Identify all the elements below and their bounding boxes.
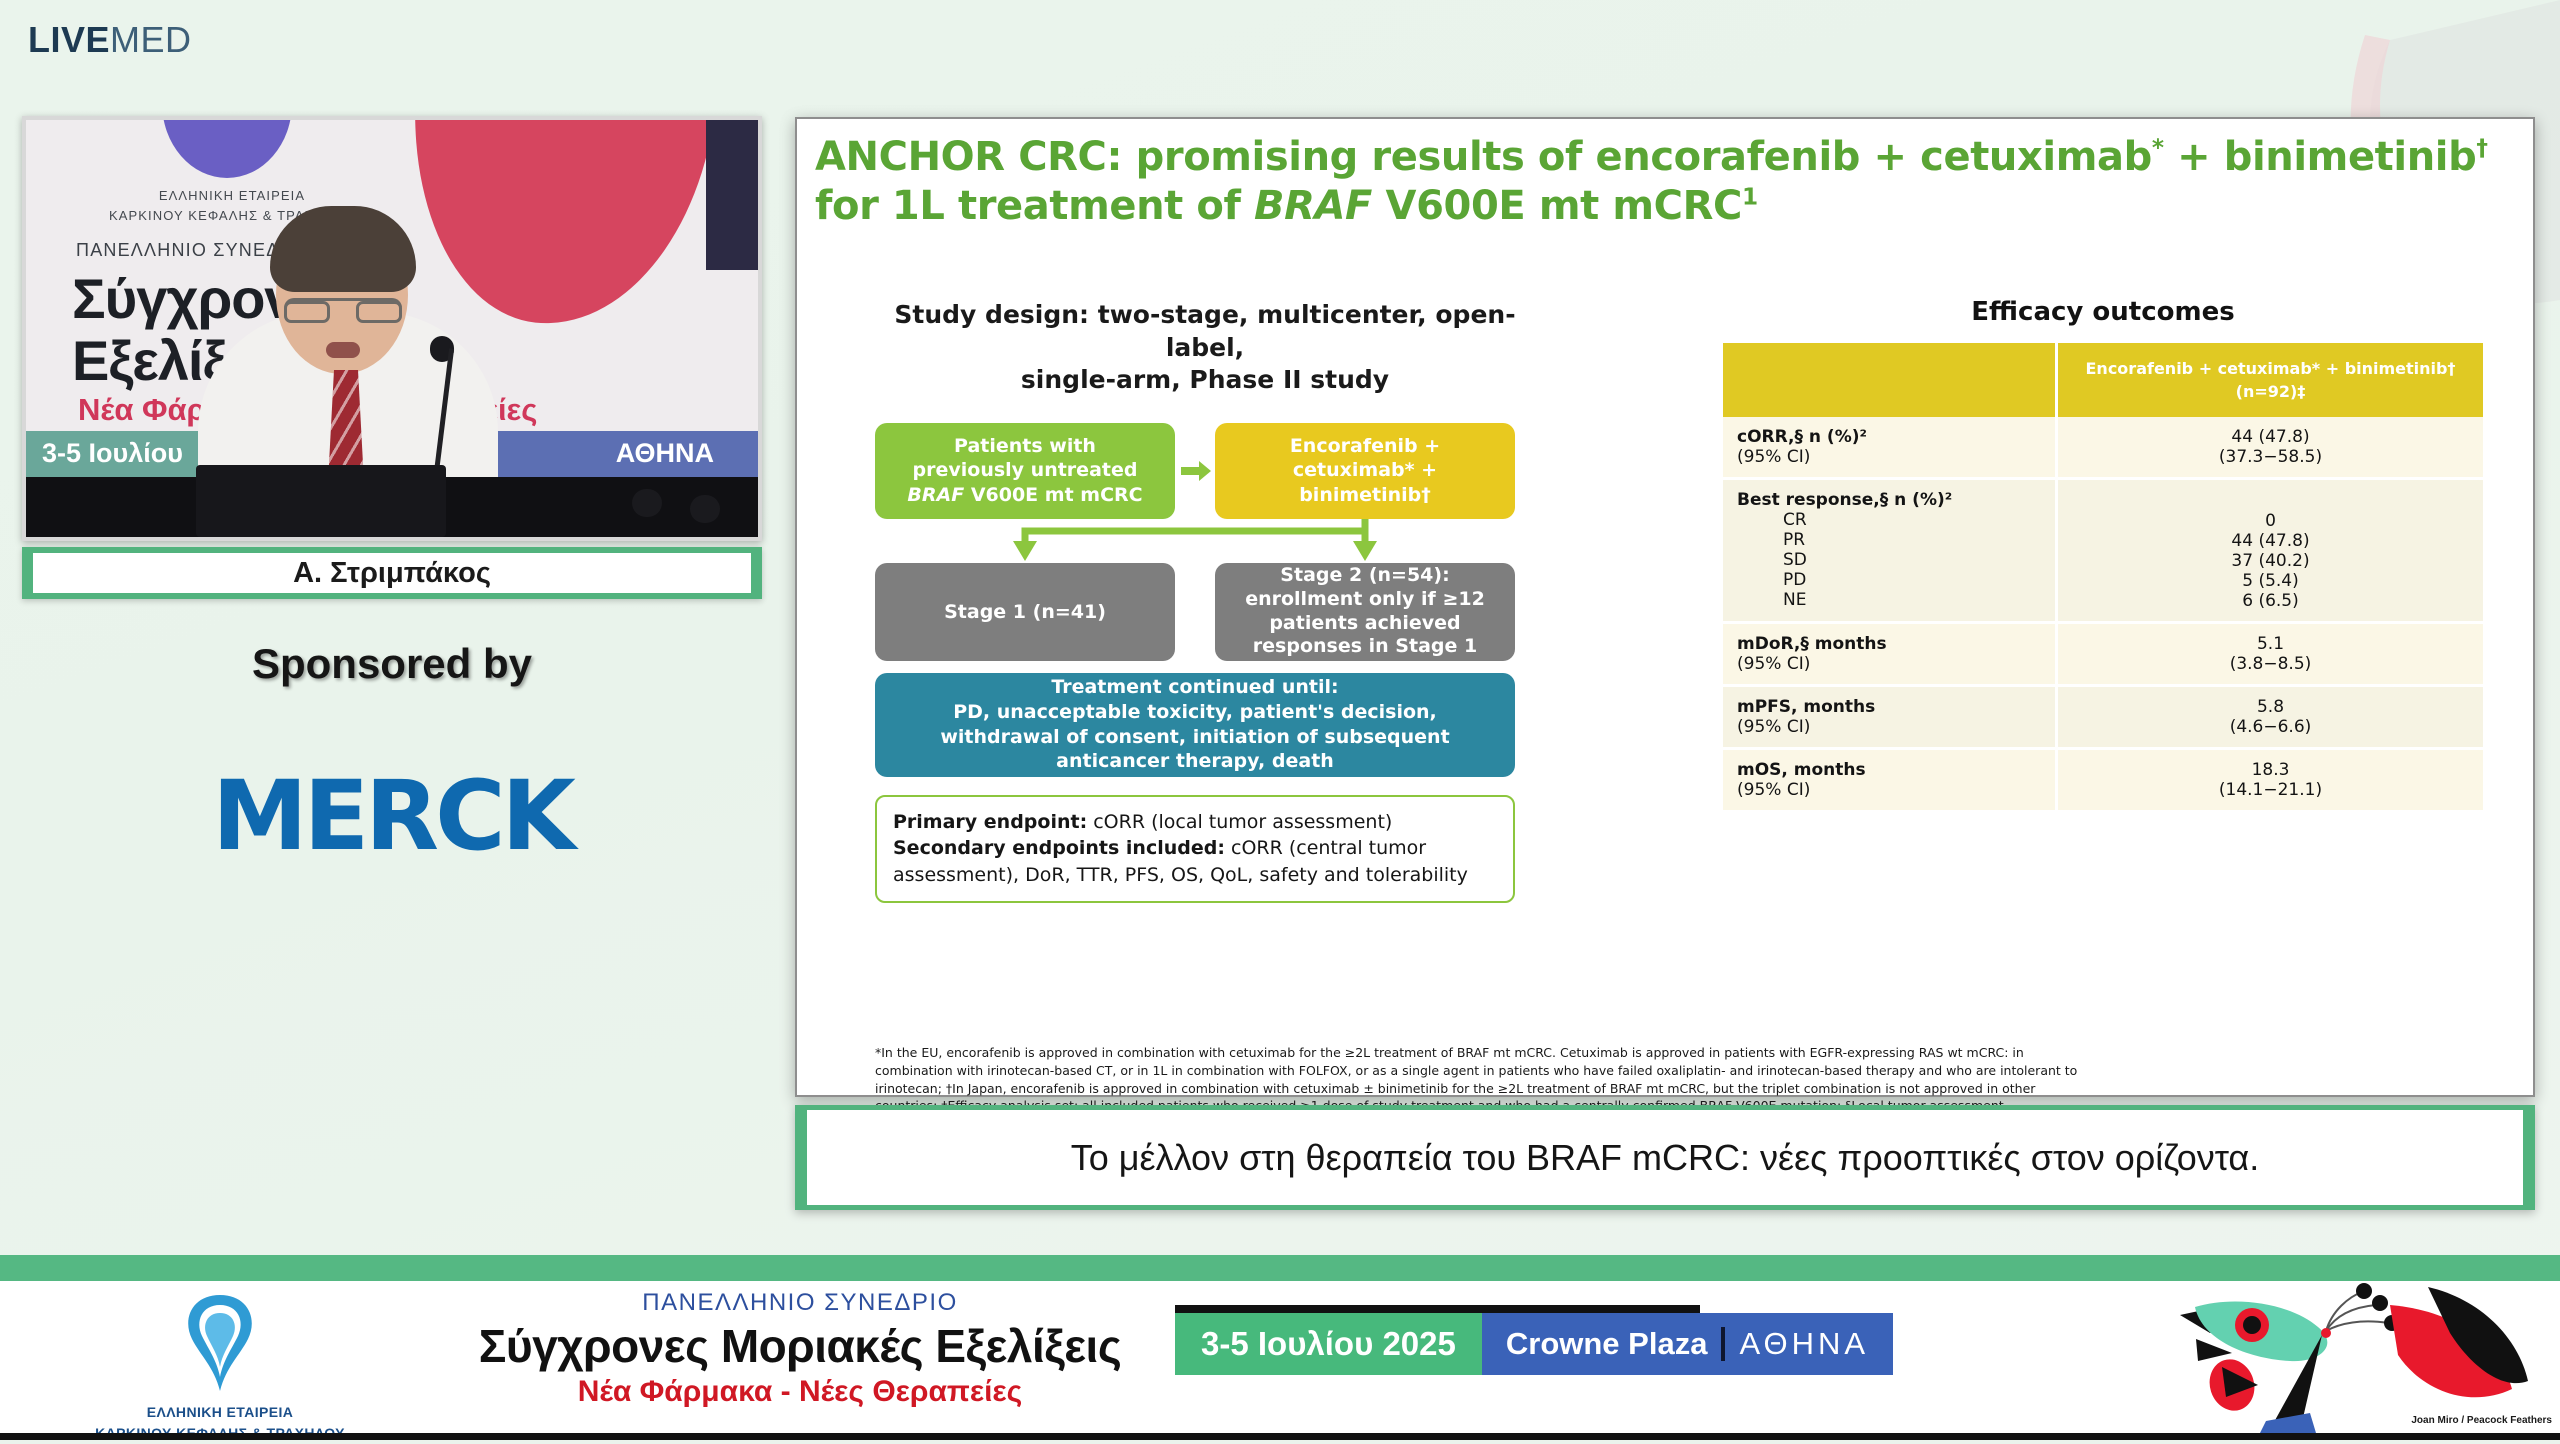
flow-row-2: Stage 1 (n=41) Stage 2 (n=54): enrollmen… xyxy=(875,563,1535,661)
row-label-corr-main: cORR,§ n (%)² xyxy=(1737,427,1867,447)
row-value-mdor: 5.1 (3.8−8.5) xyxy=(2057,623,2484,686)
banner-green-strip xyxy=(0,1255,2560,1281)
hellenic-society-line1: ΕΛΛΗΝΙΚΗ ΕΤΑΙΡΕΙΑ xyxy=(90,1402,350,1423)
flow-box-stage-2-line3: patients achieved xyxy=(1245,612,1485,636)
hellenic-society-logo: ΕΛΛΗΝΙΚΗ ΕΤΑΙΡΕΙΑ ΚΑΡΚΙΝΟΥ ΚΕΦΑΛΗΣ & ΤΡΑ… xyxy=(90,1291,350,1444)
backdrop-blue-blob xyxy=(162,120,292,178)
logo-bold-text: LIVE xyxy=(28,19,110,60)
flow-box-patients-line2: previously untreated xyxy=(907,458,1142,482)
flow-box-stage-2: Stage 2 (n=54): enrollment only if ≥12 p… xyxy=(1215,563,1515,661)
flow-box-cont-line1: Treatment continued until: xyxy=(940,675,1449,700)
flow-box-patients: Patients with previously untreated BRAF … xyxy=(875,423,1175,519)
venue-name: Crowne Plaza xyxy=(1506,1326,1708,1362)
flow-box-treatment-line1: Encorafenib + xyxy=(1290,434,1440,458)
row-label-mpfs-main: mPFS, months xyxy=(1737,697,1875,717)
microphone-2-icon xyxy=(632,489,662,517)
row-label-mpfs-ci: (95% CI) xyxy=(1737,717,1810,737)
table-row: mPFS, months (95% CI) 5.8 (4.6−6.6) xyxy=(1723,686,2483,749)
flow-box-stage-2-line1: Stage 2 (n=54): xyxy=(1245,564,1485,588)
row-label-mdor-ci: (95% CI) xyxy=(1737,654,1810,674)
speaker-video[interactable]: ΕΛΛΗΝΙΚΗ ΕΤΑΙΡΕΙΑ ΚΑΡΚΙΝΟΥ ΚΕΦΑΛΗΣ & ΤΡΑ… xyxy=(22,116,762,541)
date-venue-topbar xyxy=(1175,1305,1700,1313)
backdrop-date-text: 3-5 Ιουλίου xyxy=(42,438,183,469)
row-value-mos-main: 18.3 xyxy=(2252,760,2290,780)
footnote-line-2: combination with irinotecan-based CT, or… xyxy=(875,1062,2483,1080)
row-label-ne: NE xyxy=(1737,590,2041,610)
conference-title: Σύγχρονες Μοριακές Εξελίξεις xyxy=(430,1319,1170,1373)
conference-kicker: ΠΑΝΕΛΛΗΝΙΟ ΣΥΝΕΔΡΙΟ xyxy=(430,1289,1170,1317)
flow-box-cont-line4: anticancer therapy, death xyxy=(940,749,1449,774)
endpoints-box: Primary endpoint: cORR (local tumor asse… xyxy=(875,795,1515,904)
conference-dates: 3-5 Ιουλίου 2025 xyxy=(1175,1313,1482,1375)
livemed-logo: LIVEMED xyxy=(28,22,192,58)
efficacy-column: Efficacy outcomes Encorafenib + cetuxima… xyxy=(1723,297,2483,810)
table-row: mOS, months (95% CI) 18.3 (14.1−21.1) xyxy=(1723,749,2483,811)
row-value-mpfs-ci: (4.6−6.6) xyxy=(2230,717,2312,737)
row-label-mdor-main: mDoR,§ months xyxy=(1737,634,1887,654)
row-value-cr: 0 xyxy=(2072,511,2469,531)
table-header-arm-line2: (n=92)‡ xyxy=(2068,380,2473,403)
conference-subtitle: Νέα Φάρμακα - Νέες Θεραπείες xyxy=(430,1375,1170,1409)
venue-separator xyxy=(1721,1327,1725,1361)
flow-box-patients-braf: BRAF xyxy=(907,484,964,506)
row-label-pr: PR xyxy=(1737,530,2041,550)
banner-dark-strip xyxy=(0,1433,2560,1440)
primary-endpoint-text: cORR (local tumor assessment) xyxy=(1087,811,1392,833)
venue-city: ΑΘΗΝΑ xyxy=(1739,1326,1869,1362)
row-label-mos: mOS, months (95% CI) xyxy=(1723,749,2057,811)
caption-inner: Το μέλλον στη θεραπεία του BRAF mCRC: νέ… xyxy=(807,1110,2523,1205)
row-label-cr: CR xyxy=(1737,510,2041,530)
table-row: mDoR,§ months (95% CI) 5.1 (3.8−8.5) xyxy=(1723,623,2483,686)
row-label-best-response-main: Best response,§ n (%)² xyxy=(1737,490,1952,510)
flow-box-stage-2-line4: responses in Stage 1 xyxy=(1245,635,1485,659)
row-value-ne: 6 (6.5) xyxy=(2072,591,2469,611)
table-header-arm-line1: Encorafenib + cetuximab* + binimetinib† xyxy=(2068,357,2473,380)
presentation-slide[interactable]: ANCHOR CRC: promising results of encoraf… xyxy=(795,117,2535,1097)
speaker-glasses xyxy=(284,298,402,323)
backdrop-dark-strip xyxy=(706,120,758,270)
footnote-line-3: irinotecan; †In Japan, encorafenib is ap… xyxy=(875,1080,2483,1098)
backdrop-city-text: ΑΘΗΝΑ xyxy=(616,438,714,469)
miro-artwork-svg: Joan Miro / Peacock Feathers xyxy=(2140,1281,2560,1433)
slide-title-sup-dagger: † xyxy=(2476,135,2487,162)
flow-box-treatment: Encorafenib + cetuximab* + binimetinib† xyxy=(1215,423,1515,519)
slide-title-line1-a: ANCHOR CRC: promising results of encoraf… xyxy=(815,134,2152,180)
table-row: Best response,§ n (%)² CR PR SD PD NE 0 … xyxy=(1723,479,2483,623)
flow-box-cont-line3: withdrawal of consent, initiation of sub… xyxy=(940,725,1449,750)
row-value-sd: 37 (40.2) xyxy=(2072,551,2469,571)
date-venue-block: 3-5 Ιουλίου 2025 Crowne Plaza ΑΘΗΝΑ xyxy=(1175,1313,1893,1375)
flow-box-cont-line2: PD, unacceptable toxicity, patient's dec… xyxy=(940,700,1449,725)
flow-box-treatment-continued: Treatment continued until: PD, unaccepta… xyxy=(875,673,1515,777)
conference-venue: Crowne Plaza ΑΘΗΝΑ xyxy=(1482,1313,1893,1375)
study-design-heading-line1: Study design: two-stage, multicenter, op… xyxy=(875,299,1535,364)
flow-connector-lines xyxy=(875,519,1535,563)
study-design-column: Study design: two-stage, multicenter, op… xyxy=(875,299,1535,903)
miro-artwork: Joan Miro / Peacock Feathers xyxy=(2140,1281,2560,1433)
slide-title-sup-asterisk: * xyxy=(2152,135,2164,162)
row-label-mos-ci: (95% CI) xyxy=(1737,780,1810,800)
speaker-name: Α. Στριμπάκος xyxy=(33,553,751,593)
flow-box-stage-1: Stage 1 (n=41) xyxy=(875,563,1175,661)
bottom-banner: ΕΛΛΗΝΙΚΗ ΕΤΑΙΡΕΙΑ ΚΑΡΚΙΝΟΥ ΚΕΦΑΛΗΣ & ΤΡΑ… xyxy=(0,1255,2560,1440)
slide-title-line2-b: V600E mt mCRC xyxy=(1372,183,1742,229)
efficacy-table: Encorafenib + cetuximab* + binimetinib† … xyxy=(1723,343,2483,810)
slide-title-braf: BRAF xyxy=(1254,183,1372,229)
row-value-mdor-main: 5.1 xyxy=(2257,634,2284,654)
secondary-endpoint-label: Secondary endpoints included: xyxy=(893,837,1225,859)
ribbon-icon xyxy=(160,1291,280,1396)
table-header-arm: Encorafenib + cetuximab* + binimetinib† … xyxy=(2057,343,2484,417)
flow-box-patients-line1: Patients with xyxy=(907,434,1142,458)
caption-bar: Το μέλλον στη θεραπεία του BRAF mCRC: νέ… xyxy=(795,1105,2535,1210)
row-label-corr-ci: (95% CI) xyxy=(1737,447,1810,467)
row-values-best-response: 0 44 (47.8) 37 (40.2) 5 (5.4) 6 (6.5) xyxy=(2057,479,2484,623)
logo-light-text: MED xyxy=(110,19,192,60)
flow-box-treatment-line2: cetuximab* + xyxy=(1290,458,1440,482)
talk-title-caption: Το μέλλον στη θεραπεία του BRAF mCRC: νέ… xyxy=(1071,1137,2260,1179)
row-label-pd: PD xyxy=(1737,570,2041,590)
footnote-line-1: *In the EU, encorafenib is approved in c… xyxy=(875,1044,2483,1062)
flow-box-treatment-line3: binimetinib† xyxy=(1290,483,1440,507)
table-header-row: Encorafenib + cetuximab* + binimetinib† … xyxy=(1723,343,2483,417)
sponsored-by-label: Sponsored by xyxy=(22,640,762,688)
row-value-pr: 44 (47.8) xyxy=(2072,531,2469,551)
slide-title: ANCHOR CRC: promising results of encoraf… xyxy=(815,133,2517,231)
speaker-panel: ΕΛΛΗΝΙΚΗ ΕΤΑΙΡΕΙΑ ΚΑΡΚΙΝΟΥ ΚΕΦΑΛΗΣ & ΤΡΑ… xyxy=(22,116,762,599)
primary-endpoint-label: Primary endpoint: xyxy=(893,811,1087,833)
video-inner: ΕΛΛΗΝΙΚΗ ΕΤΑΙΡΕΙΑ ΚΑΡΚΙΝΟΥ ΚΕΦΑΛΗΣ & ΤΡΑ… xyxy=(26,120,758,537)
slide-title-line2-a: for 1L treatment of xyxy=(815,183,1254,229)
row-label-mpfs: mPFS, months (95% CI) xyxy=(1723,686,2057,749)
row-label-sd: SD xyxy=(1737,550,2041,570)
row-value-corr: 44 (47.8) (37.3−58.5) xyxy=(2057,417,2484,479)
row-value-pd: 5 (5.4) xyxy=(2072,571,2469,591)
slide-title-ref-1: 1 xyxy=(1742,183,1758,210)
flow-box-stage-2-line2: enrollment only if ≥12 xyxy=(1245,588,1485,612)
row-value-corr-ci: (37.3−58.5) xyxy=(2219,447,2322,467)
row-label-mos-main: mOS, months xyxy=(1737,760,1866,780)
study-design-heading: Study design: two-stage, multicenter, op… xyxy=(875,299,1535,397)
row-value-mos-ci: (14.1−21.1) xyxy=(2219,780,2322,800)
speaker-mouth xyxy=(326,342,360,358)
speaker-name-bar: Α. Στριμπάκος xyxy=(22,547,762,599)
row-value-mpfs-main: 5.8 xyxy=(2257,697,2284,717)
flow-row-1: Patients with previously untreated BRAF … xyxy=(875,423,1535,519)
microphone-3-icon xyxy=(690,495,720,523)
secondary-endpoint-row: Secondary endpoints included: cORR (cent… xyxy=(893,835,1497,889)
arrow-right-icon xyxy=(1181,461,1211,481)
flow-connector xyxy=(875,519,1535,563)
study-design-heading-line2: single-arm, Phase II study xyxy=(875,364,1535,397)
row-label-best-response: Best response,§ n (%)² CR PR SD PD NE xyxy=(1723,479,2057,623)
efficacy-heading: Efficacy outcomes xyxy=(1723,297,2483,327)
backdrop-red-blob xyxy=(393,120,720,339)
table-row: cORR,§ n (%)² (95% CI) 44 (47.8) (37.3−5… xyxy=(1723,417,2483,479)
row-value-corr-main: 44 (47.8) xyxy=(2231,427,2309,447)
backdrop-society-line1: ΕΛΛΗΝΙΚΗ ΕΤΑΙΡΕΙΑ xyxy=(82,186,382,206)
row-value-mdor-ci: (3.8−8.5) xyxy=(2230,654,2312,674)
merck-logo: MERCK xyxy=(22,760,762,872)
art-credit-text: Joan Miro / Peacock Feathers xyxy=(2411,1415,2552,1426)
table-header-blank xyxy=(1723,343,2057,417)
speaker-hair xyxy=(270,206,416,292)
row-label-corr: cORR,§ n (%)² (95% CI) xyxy=(1723,417,2057,479)
row-value-mos: 18.3 (14.1−21.1) xyxy=(2057,749,2484,811)
primary-endpoint-row: Primary endpoint: cORR (local tumor asse… xyxy=(893,809,1497,836)
laptop xyxy=(196,465,446,537)
slide-title-line1-b: + binimetinib xyxy=(2164,134,2477,180)
flow-box-patients-line3: V600E mt mCRC xyxy=(964,484,1142,506)
row-label-mdor: mDoR,§ months (95% CI) xyxy=(1723,623,2057,686)
row-value-mpfs: 5.8 (4.6−6.6) xyxy=(2057,686,2484,749)
conference-title-block: ΠΑΝΕΛΛΗΝΙΟ ΣΥΝΕΔΡΙΟ Σύγχρονες Μοριακές Ε… xyxy=(430,1289,1170,1409)
